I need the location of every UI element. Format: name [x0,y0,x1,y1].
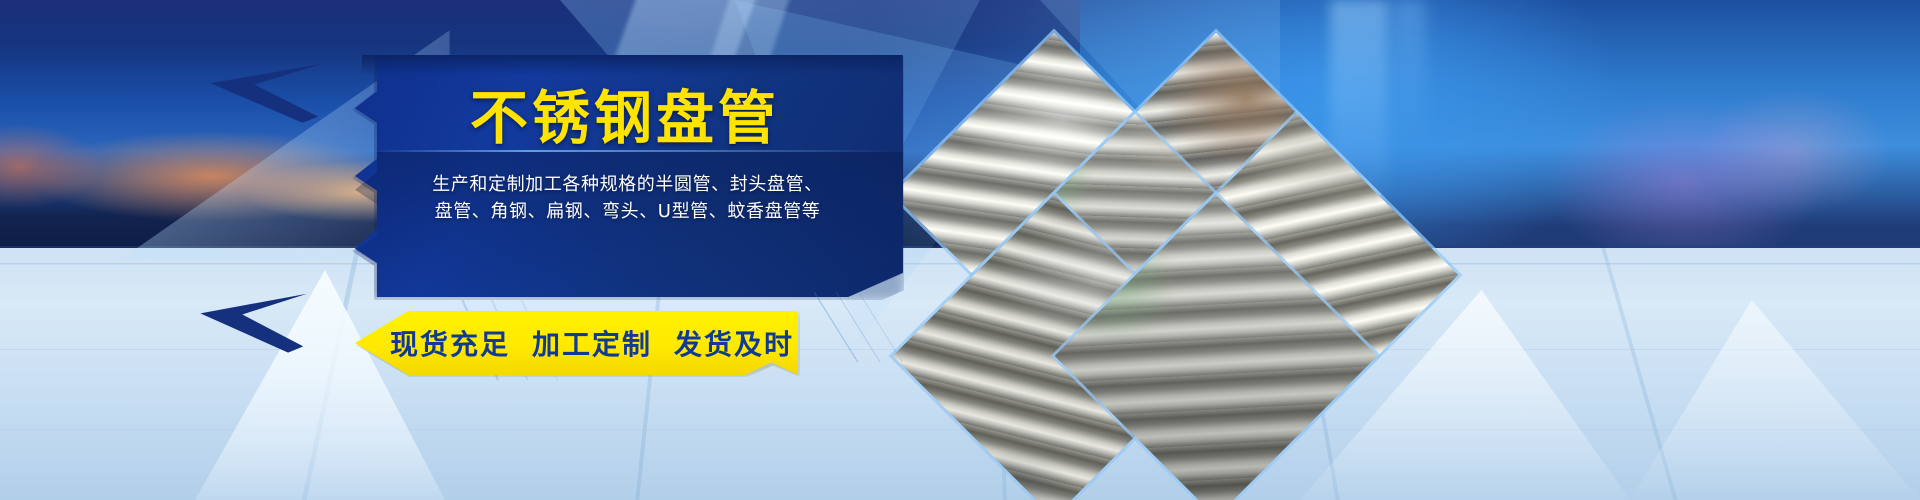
plaza-hairlines-right [790,292,970,362]
banner-subtitle-line-1: 生产和定制加工各种规格的半圆管、封头盘管、 [365,172,890,198]
tagline-item-1: 现货充足 [390,323,510,363]
tagline-item-2: 加工定制 [532,323,652,363]
tagline-text-group: 现货充足 加工定制 发货及时 [392,311,792,375]
product-banner: 不锈钢盘管 生产和定制加工各种规格的半圆管、封头盘管、 盘管、角钢、扁钢、弯头、… [0,0,1920,500]
banner-headline: 不锈钢盘管 [355,86,895,150]
headline-panel-fold [362,55,902,75]
product-photo-collage [820,0,1440,500]
banner-subtitle-line-2: 盘管、角钢、扁钢、弯头、U型管、蚊香盘管等 [365,199,890,225]
tagline-item-3: 发货及时 [674,323,794,363]
